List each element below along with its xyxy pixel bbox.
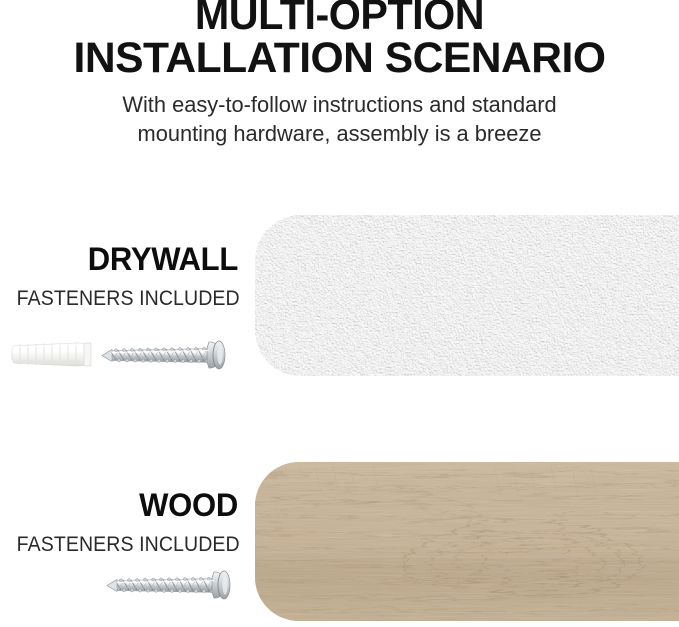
wood-section-title: WOOD <box>7 489 238 521</box>
plastic-wall-anchor-illustration <box>12 343 91 366</box>
page-title-line-2: INSTALLATION SCENARIO <box>3 37 675 79</box>
page-title-line-1: MULTI-OPTION <box>14 0 666 36</box>
page-subtitle-line-1: With easy-to-follow instructions and sta… <box>10 91 669 120</box>
drywall-section-labels: DRYWALL FASTENERS INCLUDED <box>0 243 238 309</box>
page-subtitle-line-2: mounting hardware, assembly is a breeze <box>10 120 669 149</box>
drywall-section-title: DRYWALL <box>7 243 238 275</box>
wood-section-subtitle: FASTENERS INCLUDED <box>17 534 238 555</box>
drywall-texture-image <box>255 215 679 376</box>
washer-head-screw-illustration <box>107 571 230 599</box>
header-block: MULTI-OPTION INSTALLATION SCENARIO With … <box>0 0 679 149</box>
wood-section-labels: WOOD FASTENERS INCLUDED <box>0 489 238 555</box>
drywall-hardware-group <box>6 332 238 378</box>
page-subtitle: With easy-to-follow instructions and sta… <box>10 91 669 149</box>
drywall-surface-panel <box>255 215 679 376</box>
wood-hardware-group <box>97 562 237 608</box>
wood-surface-panel <box>255 462 679 621</box>
washer-head-screw-illustration <box>102 341 225 369</box>
wood-grain-texture-image <box>255 462 679 621</box>
drywall-section-subtitle: FASTENERS INCLUDED <box>17 288 238 309</box>
